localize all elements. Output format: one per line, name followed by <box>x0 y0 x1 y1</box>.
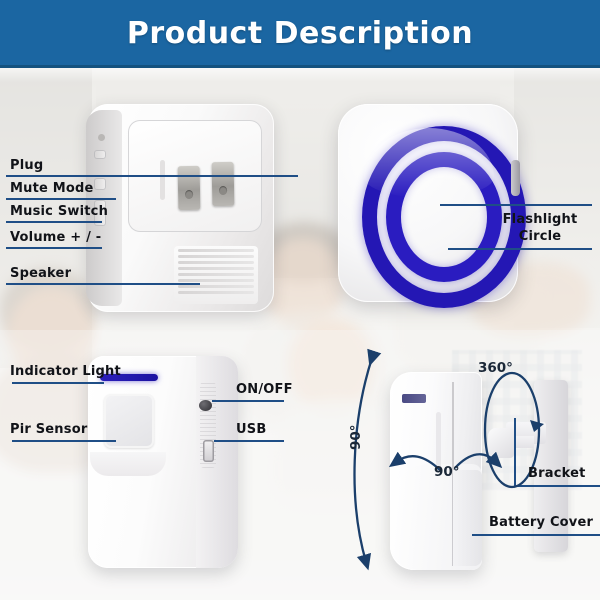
pir-side-badge <box>402 394 426 403</box>
pir-usb-port[interactable] <box>203 440 214 462</box>
receiver-ac-prong-left <box>178 166 201 210</box>
leader-line-plug <box>6 175 298 177</box>
bracket-ball-joint <box>488 428 514 458</box>
pir-side-slot <box>436 412 441 472</box>
pir-lower-lip <box>90 452 166 476</box>
receiver-speaker-grille <box>174 246 258 304</box>
leader-line-on-off <box>212 400 284 402</box>
receiver-plug-marker <box>98 134 105 141</box>
label-swivel-90-horizontal: 90° <box>434 464 460 480</box>
leader-line-speaker <box>6 283 200 285</box>
leader-line-bracket-vertical <box>514 418 516 486</box>
receiver-prong-slot <box>160 160 165 200</box>
header-banner: Product Description <box>0 0 600 68</box>
label-mute-mode: Mute Mode <box>10 181 94 196</box>
label-music-switch: Music Switch <box>10 204 108 219</box>
label-usb: USB <box>236 422 266 437</box>
receiver-ac-prong-right <box>212 162 235 206</box>
label-volume: Volume + / - <box>10 230 101 245</box>
leader-line-music-switch <box>6 221 102 223</box>
leader-line-battery-cover <box>472 534 600 536</box>
leader-line-bracket-horizontal <box>514 485 600 487</box>
product-description-image: Product Description <box>0 0 600 600</box>
receiver-music-switch[interactable] <box>94 178 106 190</box>
header-shine <box>0 68 600 82</box>
leader-line-volume <box>6 247 102 249</box>
page-title: Product Description <box>0 16 600 51</box>
label-tilt-90-vertical: 90° <box>348 424 364 450</box>
pir-power-button[interactable] <box>199 400 212 411</box>
label-speaker: Speaker <box>10 266 71 281</box>
label-bracket: Bracket <box>528 466 586 481</box>
leader-line-flashlight-outer <box>440 204 592 206</box>
prong-hole-icon <box>219 186 227 195</box>
label-flashlight-circle-line1: Flashlight <box>498 212 582 227</box>
pir-battery-cover <box>452 470 482 566</box>
plug-in-receiver-device <box>88 104 274 312</box>
label-indicator-light: Indicator Light <box>10 364 121 379</box>
leader-line-usb <box>214 440 284 442</box>
doorbell-side-edge <box>511 160 520 196</box>
label-pir-sensor: Pir Sensor <box>10 422 87 437</box>
leader-line-pir-sensor <box>12 440 116 442</box>
label-battery-cover: Battery Cover <box>489 515 593 530</box>
header-bottom-rule <box>0 65 600 68</box>
label-flashlight-circle-line2: Circle <box>498 229 582 244</box>
label-plug: Plug <box>10 158 43 173</box>
prong-hole-icon <box>185 190 193 199</box>
label-on-off: ON/OFF <box>236 382 293 397</box>
leader-line-flashlight-inner <box>448 248 592 250</box>
leader-line-indicator-light <box>12 382 104 384</box>
leader-line-mute-mode <box>6 198 116 200</box>
label-rotation-360: 360° <box>478 360 513 376</box>
pir-motion-sensor-device <box>88 356 238 568</box>
doorbell-push-button-device[interactable] <box>338 104 518 302</box>
receiver-mute-mode-switch[interactable] <box>94 150 106 159</box>
